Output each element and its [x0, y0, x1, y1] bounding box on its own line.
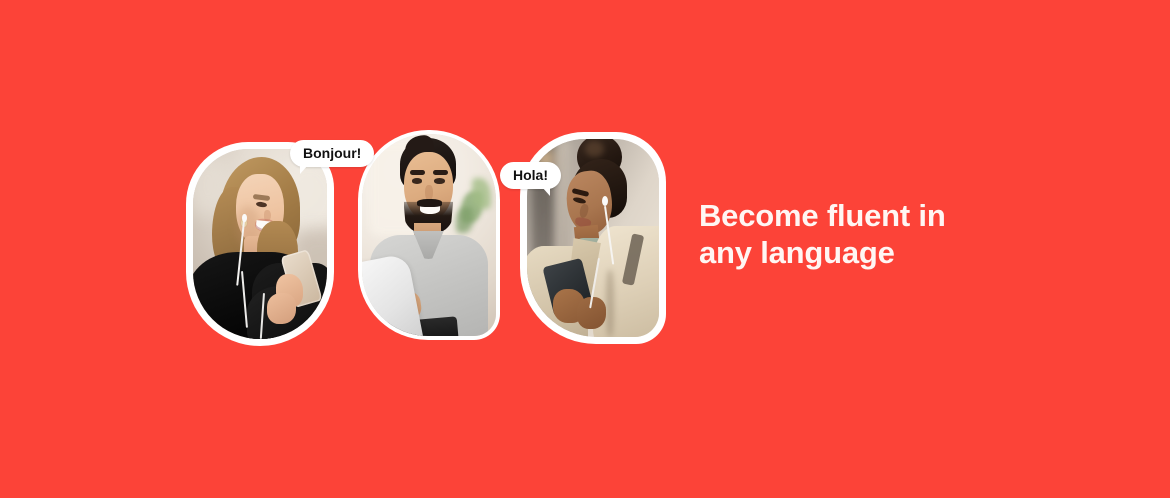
speech-bubble-bonjour: Bonjour! — [290, 140, 374, 167]
speech-bubble-hola: Hola! — [500, 162, 561, 189]
eyebrow-right — [433, 170, 448, 175]
language-learning-banner: Bonjour! Hola! Become fluent in any lang… — [0, 0, 1170, 498]
coat-fold-shadow — [606, 270, 614, 337]
eyebrow-left — [410, 170, 425, 175]
photo-card-blonde-woman-phone — [186, 142, 334, 346]
photo-cluster — [186, 126, 676, 346]
photo-frame — [358, 130, 500, 340]
background-plant-b — [472, 178, 491, 208]
photo-card-bearded-man-laptop — [358, 130, 500, 340]
headline-line-1: Become fluent in — [699, 198, 1079, 235]
portrait-scene — [193, 149, 327, 339]
hair-bun-highlight — [585, 141, 603, 157]
headline-line-2: any language — [699, 235, 1079, 272]
portrait-scene — [362, 134, 496, 336]
earbud — [242, 214, 247, 222]
headline: Become fluent in any language — [699, 198, 1079, 271]
eye-left — [412, 178, 423, 183]
moustache — [417, 199, 442, 207]
eye-right — [434, 178, 445, 183]
hand-lower — [267, 293, 296, 323]
photo-frame — [186, 142, 334, 346]
photo-image-bearded-man-laptop — [362, 134, 496, 336]
photo-image-blonde-woman-phone — [193, 149, 327, 339]
